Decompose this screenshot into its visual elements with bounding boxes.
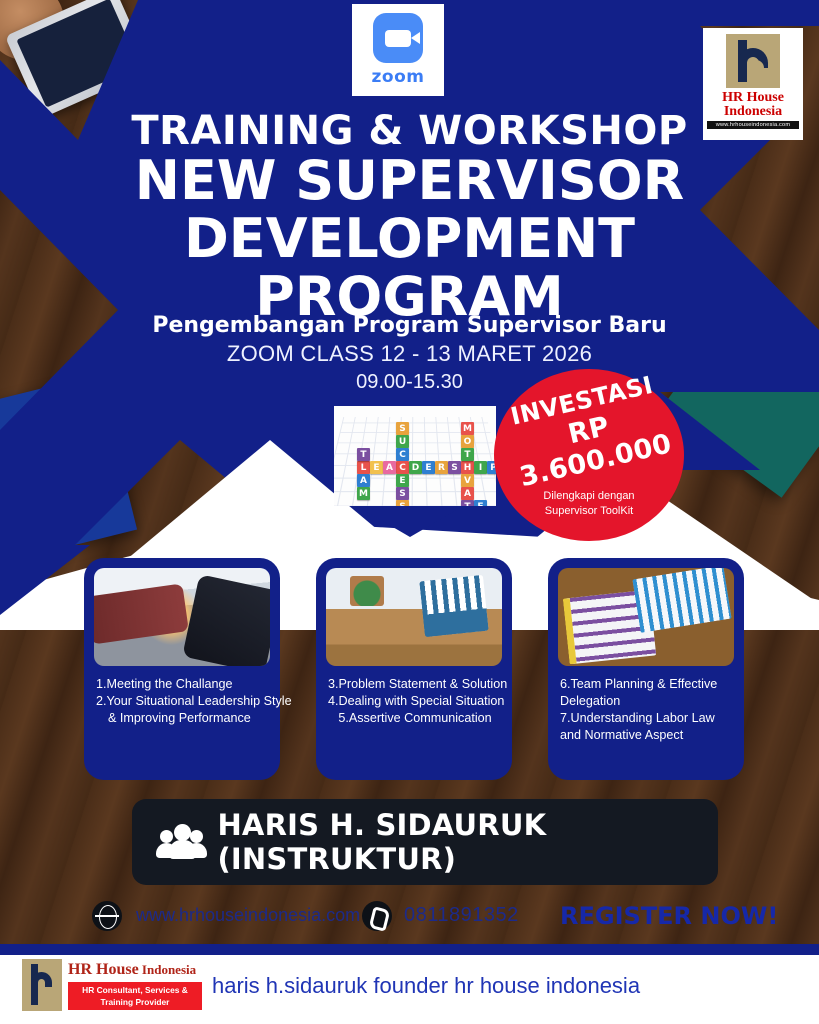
hero-eyebrow: TRAINING & WORKSHOP [0,108,819,154]
crossword-tile: V [461,474,474,487]
topic-list: 6.Team Planning & Effective Delegation 7… [558,676,734,744]
blue-divider-strip [0,944,819,955]
zoom-logo: zoom [352,4,444,96]
people-group-icon [158,822,213,862]
footer-tagline: haris h.sidauruk founder hr house indone… [212,973,640,999]
topic-line: & Improving Performance [96,710,270,727]
crossword-tile: S [396,422,409,435]
footer-monogram-icon [22,959,62,1011]
topic-card: 1.Meeting the Challange 2.Your Situation… [84,558,280,780]
footer-bar: HR House Indonesia HR Consultant, Servic… [0,955,819,1024]
crossword-tile: E [396,474,409,487]
crossword-tile: I [474,461,487,474]
crossword-tile: A [357,474,370,487]
topic-line: 1.Meeting the Challange [96,676,270,693]
investment-note: Dilengkapi dengan Supervisor ToolKit [543,489,634,519]
hr-logo-line1: HR House [722,90,784,105]
crossword-tile: T [357,448,370,461]
hr-house-monogram-icon [726,34,780,88]
phone-number[interactable]: 0811891352 [404,904,519,927]
video-camera-icon [373,13,423,63]
crossword-tile: M [461,422,474,435]
footer-badge-line1: HR Consultant, Services & [82,985,188,995]
office-meeting-photo [326,568,502,666]
crossword-tile: S [396,500,409,506]
contact-row: www.hrhouseindonesia.com 0811891352 REGI… [0,895,819,941]
crossword-tile: S [448,461,461,474]
topic-card: 3.Problem Statement & Solution 4.Dealing… [316,558,512,780]
zoom-wordmark: zoom [372,67,425,87]
footer-logo-line1-small: Indonesia [139,962,196,977]
topic-line: 3.Problem Statement & Solution [328,676,502,693]
topic-line: 2.Your Situational Leadership Style [96,693,270,710]
crossword-tile: R [435,461,448,474]
topic-line: 7.Understanding Labor Law and Normative … [560,710,734,744]
topic-line: 6.Team Planning & Effective Delegation [560,676,734,710]
footer-logo-name: HR House Indonesia [68,961,196,979]
investment-badge: INVESTASI RP 3.600.000 Dilengkapi dengan… [494,369,684,541]
crossword-tile: A [383,461,396,474]
crossword-tile: T [461,448,474,461]
crossword-tile: L [357,461,370,474]
crossword-tile: D [409,461,422,474]
crossword-tile: C [396,461,409,474]
investment-note-line1: Dilengkapi dengan [543,490,634,502]
crossword-tile: U [396,435,409,448]
topic-card: 6.Team Planning & Effective Delegation 7… [548,558,744,780]
topic-line: 4.Dealing with Special Situation [328,693,502,710]
crossword-tile: O [461,435,474,448]
globe-icon [92,901,122,931]
handshake-photo [94,568,270,666]
register-now-cta[interactable]: REGISTER NOW! [560,902,778,930]
crossword-tile: C [396,448,409,461]
crossword-tile: E [370,461,383,474]
page-title: NEW SUPERVISOR DEVELOPMENT PROGRAM [0,152,819,326]
crossword-tile: M [357,487,370,500]
crossword-image: SUCCESSLEADERSHIPTAMMOTVATE [334,406,496,506]
footer-logo-line1: HR House [68,961,139,978]
hero-time: 09.00-15.30 [0,371,819,394]
topic-line: 5.Assertive Communication [328,710,502,727]
crossword-tile: H [461,461,474,474]
poster-root: zoom HR House Indonesia www.hrhouseindon… [0,0,819,1024]
footer-badge-line2: Training Provider [101,997,170,1007]
crossword-tile: T [461,500,474,506]
topic-list: 1.Meeting the Challange 2.Your Situation… [94,676,270,727]
hero-subtitle: Pengembangan Program Supervisor Baru [0,313,819,338]
footer-services-badge: HR Consultant, Services & Training Provi… [68,982,202,1010]
crossword-tile: E [422,461,435,474]
instructor-name: HARIS H. SIDAURUK (INSTRUKTUR) [217,808,718,876]
investment-note-line2: Supervisor ToolKit [545,505,633,517]
title-line-1: NEW SUPERVISOR [135,149,685,212]
website-link[interactable]: www.hrhouseindonesia.com [136,905,360,926]
documents-review-photo [558,568,734,666]
topic-list: 3.Problem Statement & Solution 4.Dealing… [326,676,502,727]
crossword-tile: A [461,487,474,500]
hero-class-date: ZOOM CLASS 12 - 13 MARET 2026 [0,341,819,367]
crossword-tile: E [474,500,487,506]
instructor-banner: HARIS H. SIDAURUK (INSTRUKTUR) [132,799,718,885]
phone-icon [362,901,392,931]
title-line-2: DEVELOPMENT [184,207,635,270]
crossword-tile: S [396,487,409,500]
